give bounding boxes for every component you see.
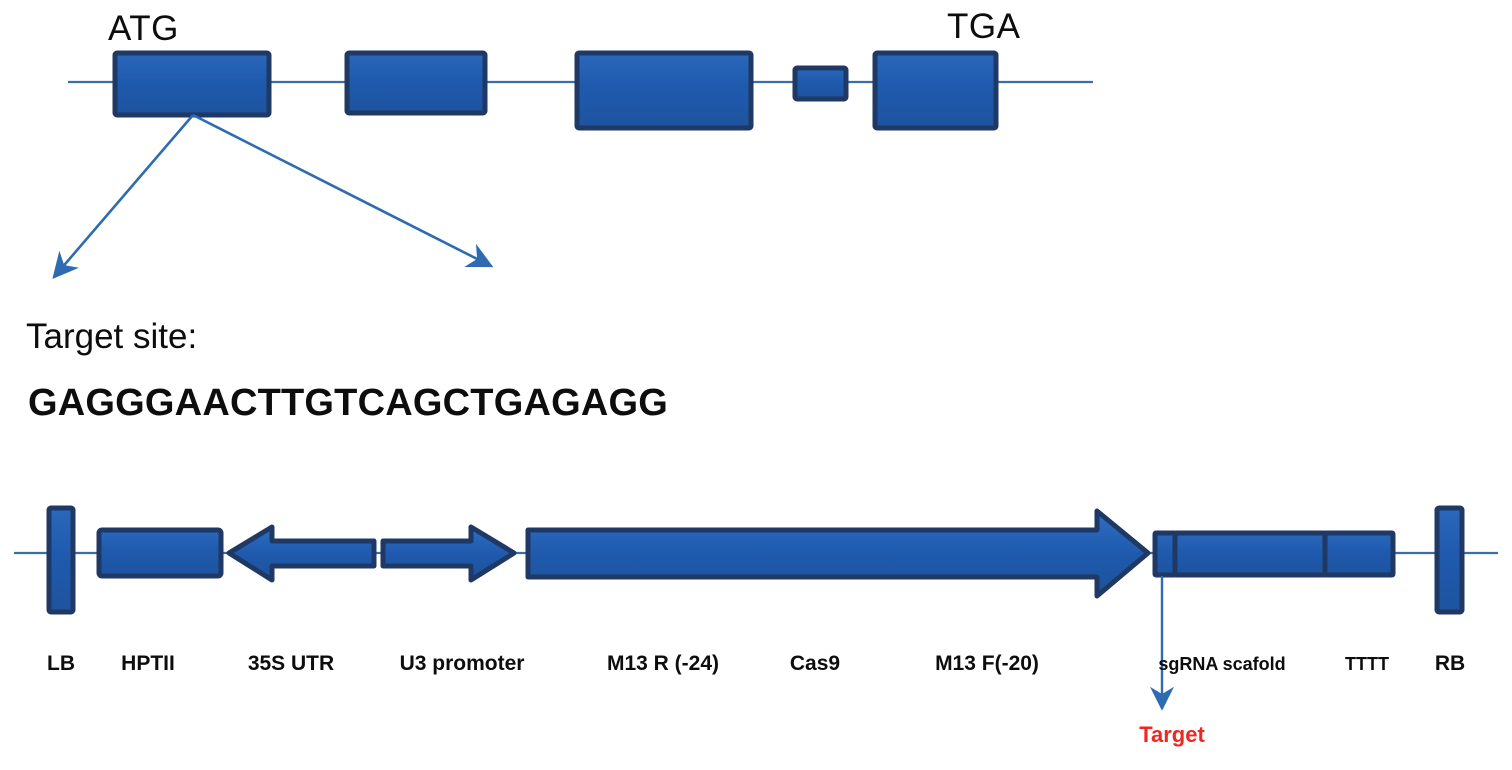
- label-u3-promoter: U3 promoter: [400, 652, 525, 675]
- target-site-sequence: GAGGGAACTTGTCAGCTGAGAGG: [28, 382, 668, 424]
- u3-promoter-arrow: [383, 527, 514, 580]
- tdna-construct-panel: LB HPTII 35S UTR U3 promoter M13 R (-24)…: [14, 508, 1498, 747]
- figure-root: ATG TGA Target site: GAGGGAACTTGTCAGCTGA…: [0, 0, 1512, 770]
- label-m13-r-primer: M13 R (-24): [607, 652, 719, 675]
- tttt-terminator: [1325, 533, 1393, 575]
- exon-1: [115, 53, 269, 115]
- gene-structure-panel: ATG TGA: [54, 7, 1093, 277]
- label-cas9: Cas9: [790, 652, 840, 675]
- start-codon-label: ATG: [108, 9, 179, 48]
- cas9-arrow: [528, 511, 1148, 596]
- exon-3: [577, 53, 751, 128]
- sgrna-scaffold: [1175, 533, 1325, 575]
- label-rb: RB: [1435, 652, 1465, 675]
- label-35s-utr: 35S UTR: [248, 652, 334, 675]
- left-border-lb: [49, 508, 73, 612]
- target-callout-label: Target: [1139, 722, 1205, 747]
- exon-5: [875, 53, 996, 128]
- diagram-canvas: ATG TGA Target site: GAGGGAACTTGTCAGCTGA…: [0, 0, 1512, 770]
- stop-codon-label: TGA: [947, 7, 1021, 46]
- target-site-block: Target site: GAGGGAACTTGTCAGCTGAGAGG: [26, 317, 668, 424]
- utr-35s-arrow: [229, 527, 374, 580]
- callout-arrow-right: [193, 115, 491, 266]
- target-site-heading: Target site:: [26, 317, 197, 356]
- label-lb: LB: [47, 652, 75, 675]
- exon-2: [347, 53, 485, 113]
- label-sgrna-scaffold: sgRNA scafold: [1158, 654, 1285, 674]
- callout-arrow-left: [54, 115, 193, 277]
- exon-4: [795, 68, 846, 99]
- label-hptii: HPTII: [121, 652, 175, 675]
- label-tttt: TTTT: [1345, 654, 1389, 674]
- label-m13-f-primer: M13 F(-20): [935, 652, 1039, 675]
- target-segment: [1155, 533, 1175, 575]
- hptii-cassette: [99, 530, 221, 576]
- right-border-rb: [1437, 508, 1462, 612]
